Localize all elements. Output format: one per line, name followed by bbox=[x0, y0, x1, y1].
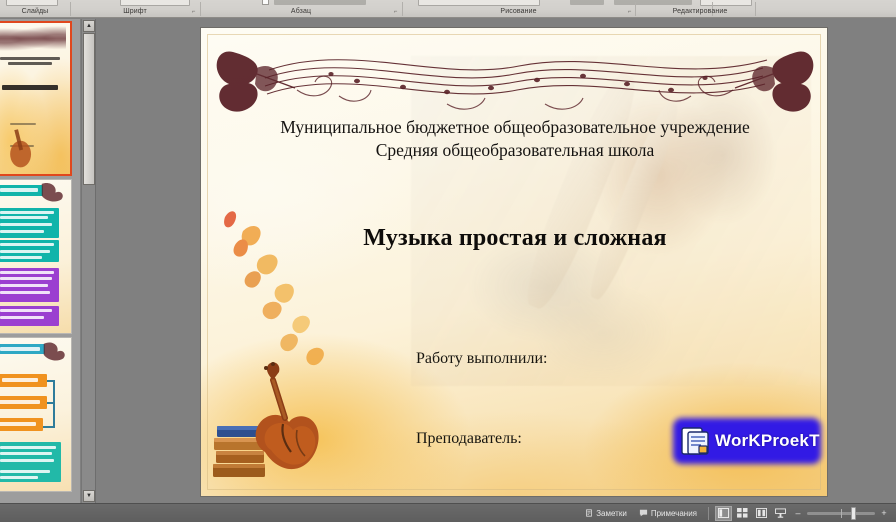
thumb1-violin-art bbox=[0, 23, 70, 170]
zoom-slider-handle[interactable] bbox=[851, 507, 856, 520]
watermark-label: WorKProekT bbox=[715, 431, 820, 451]
zoom-in-button[interactable]: + bbox=[880, 508, 888, 518]
violin-body bbox=[256, 362, 319, 469]
scroll-up-button[interactable]: ▲ bbox=[83, 20, 95, 32]
status-comments-label: Примечания bbox=[651, 509, 697, 518]
ornament-header-art bbox=[207, 34, 823, 122]
status-notes-label: Заметки bbox=[596, 509, 627, 518]
slide-editing-stage[interactable]: Муниципальное бюджетное общеобразователь… bbox=[96, 19, 896, 503]
slide-thumbnail-2[interactable] bbox=[0, 179, 72, 334]
ribbon-group-label-slides: Слайды bbox=[0, 6, 70, 17]
right-butterfly bbox=[735, 51, 813, 111]
slide-header-text[interactable]: Муниципальное бюджетное общеобразователь… bbox=[241, 116, 789, 162]
notes-icon bbox=[585, 509, 593, 517]
ornament-svg bbox=[207, 34, 823, 122]
view-button-slide-sorter[interactable] bbox=[734, 506, 751, 521]
powerpoint-window: Слайды Шрифт Абзац Рисование Редактирова… bbox=[0, 0, 896, 522]
status-bar: Заметки Примечания bbox=[0, 503, 896, 522]
left-butterfly bbox=[217, 51, 295, 111]
slide-header-line-1: Муниципальное бюджетное общеобразователь… bbox=[241, 116, 789, 139]
ribbon-checkbox-paragraph[interactable] bbox=[262, 0, 269, 5]
view-button-reading[interactable] bbox=[753, 506, 770, 521]
slide-show-icon bbox=[775, 508, 786, 518]
scrollbar-thumb[interactable] bbox=[83, 33, 95, 185]
slide-thumbnail-3[interactable] bbox=[0, 337, 72, 492]
thumbnail-pane-scrollbar[interactable]: ▲ ▼ bbox=[81, 19, 95, 503]
scroll-down-button[interactable]: ▼ bbox=[83, 490, 95, 502]
drawing-dialog-launcher-icon[interactable]: ⌐ bbox=[626, 8, 633, 16]
view-button-normal[interactable] bbox=[715, 506, 732, 521]
view-button-slide-show[interactable] bbox=[772, 506, 789, 521]
normal-view-icon bbox=[718, 508, 729, 518]
status-divider bbox=[708, 507, 709, 520]
document-icon bbox=[679, 425, 711, 457]
slide-thumbnail-1[interactable] bbox=[0, 21, 72, 176]
zoom-out-button[interactable]: – bbox=[794, 508, 802, 518]
ribbon-group-label-editing: Редактирование bbox=[645, 6, 755, 17]
thumb3-ornament-icon bbox=[0, 338, 71, 489]
status-comments-button[interactable]: Примечания bbox=[633, 506, 703, 521]
comment-icon bbox=[639, 509, 648, 517]
ribbon-label-drawing-b bbox=[614, 0, 692, 5]
watermark-workproekt: WorKProekT bbox=[673, 418, 821, 464]
font-dialog-launcher-icon[interactable]: ⌐ bbox=[190, 8, 197, 16]
zoom-slider-midpoint bbox=[841, 509, 842, 518]
zoom-control[interactable]: – + bbox=[790, 508, 896, 518]
current-slide[interactable]: Муниципальное бюджетное общеобразователь… bbox=[200, 27, 828, 497]
slide-header-line-2: Средняя общеобразовательная школа bbox=[241, 139, 789, 162]
ribbon-group-label-paragraph: Абзац bbox=[200, 6, 402, 17]
thumb2-ornament-icon bbox=[0, 180, 71, 331]
slide-sorter-icon bbox=[737, 508, 748, 518]
reading-view-icon bbox=[756, 508, 767, 518]
slide-thumbnail-pane[interactable] bbox=[0, 19, 80, 503]
violin-and-books-art bbox=[211, 340, 341, 490]
status-notes-button[interactable]: Заметки bbox=[579, 506, 633, 521]
ribbon-label-paragraph-option bbox=[274, 0, 366, 5]
ribbon-bottom-strip: Слайды Шрифт Абзац Рисование Редактирова… bbox=[0, 0, 896, 18]
paragraph-dialog-launcher-icon[interactable]: ⌐ bbox=[392, 8, 399, 16]
ribbon-group-label-font: Шрифт bbox=[70, 6, 200, 17]
zoom-slider-track[interactable] bbox=[807, 512, 875, 515]
ribbon-group-label-drawing: Рисование bbox=[402, 6, 635, 17]
slide-authors-label[interactable]: Работу выполнили: bbox=[416, 350, 756, 368]
ribbon-label-drawing-a bbox=[570, 0, 604, 5]
